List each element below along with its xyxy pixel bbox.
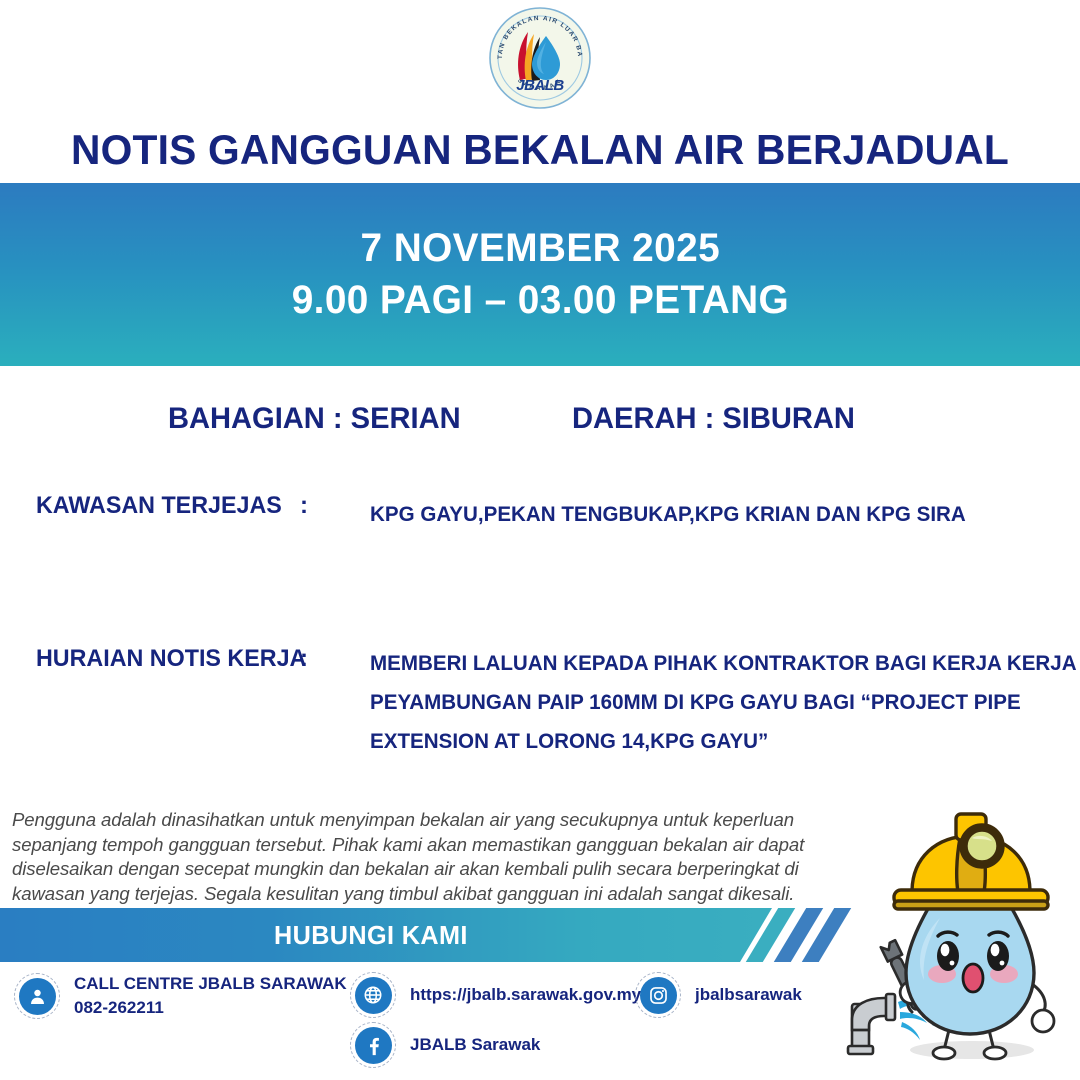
schedule-band: 7 NOVEMBER 2025 9.00 PAGI – 03.00 PETANG: [0, 183, 1080, 366]
disclaimer-text: Pengguna adalah dinasihatkan untuk menyi…: [12, 808, 812, 907]
location-row: BAHAGIAN : SERIAN DAERAH : SIBURAN: [0, 402, 1080, 442]
instagram-icon: [635, 972, 681, 1018]
website-url: https://jbalb.sarawak.gov.my/: [410, 983, 646, 1007]
page-title: NOTIS GANGGUAN BEKALAN AIR BERJADUAL: [16, 126, 1064, 174]
work-description-line-3: EXTENSION AT LORONG 14,KPG GAYU”: [370, 723, 1077, 762]
jbalb-logo: JABATAN BEKALAN AIR LUAR BANDAR SARAWAK …: [488, 6, 592, 110]
work-description-line-1: MEMBERI LALUAN KEPADA PIHAK KONTRAKTOR B…: [370, 645, 1077, 684]
svg-text:JBALB: JBALB: [516, 77, 564, 94]
contact-website-text: https://jbalb.sarawak.gov.my/: [410, 983, 646, 1007]
contact-facebook-text: JBALB Sarawak: [410, 1033, 540, 1057]
contact-banner-title: HUBUNGI KAMI: [274, 920, 468, 951]
call-centre-phone: 082-262211: [74, 996, 347, 1020]
contact-facebook[interactable]: JBALB Sarawak: [350, 1022, 540, 1068]
contact-call-centre[interactable]: CALL CENTRE JBALB SARAWAK 082-262211: [14, 972, 347, 1020]
work-description-value: MEMBERI LALUAN KEPADA PIHAK KONTRAKTOR B…: [370, 645, 1077, 762]
affected-area-value: KPG GAYU,PEKAN TENGBUKAP,KPG KRIAN DAN K…: [370, 496, 966, 535]
water-drop-mascot: [832, 788, 1080, 1080]
globe-icon: [350, 972, 396, 1018]
affected-area-label: KAWASAN TERJEJAS: [36, 492, 282, 520]
contact-banner-fill: HUBUNGI KAMI: [0, 908, 772, 962]
bahagian-label: BAHAGIAN : SERIAN: [168, 402, 461, 436]
contact-banner: HUBUNGI KAMI: [0, 908, 790, 962]
facebook-page: JBALB Sarawak: [410, 1033, 540, 1057]
work-description-line-2: PEYAMBUNGAN PAIP 160MM DI KPG GAYU BAGI …: [370, 684, 1077, 723]
work-description-label: HURAIAN NOTIS KERJA: [36, 645, 306, 673]
call-centre-name: CALL CENTRE JBALB SARAWAK: [74, 972, 347, 996]
contact-instagram[interactable]: jbalbsarawak: [635, 972, 802, 1018]
work-description-colon: :: [300, 645, 308, 673]
contact-instagram-text: jbalbsarawak: [695, 983, 802, 1007]
contact-call-centre-text: CALL CENTRE JBALB SARAWAK 082-262211: [74, 972, 347, 1020]
daerah-label: DAERAH : SIBURAN: [572, 402, 855, 436]
schedule-date: 7 NOVEMBER 2025: [360, 223, 719, 274]
contact-website[interactable]: https://jbalb.sarawak.gov.my/: [350, 972, 646, 1018]
person-icon: [14, 973, 60, 1019]
schedule-time: 9.00 PAGI – 03.00 PETANG: [291, 275, 788, 326]
facebook-icon: [350, 1022, 396, 1068]
instagram-handle: jbalbsarawak: [695, 983, 802, 1007]
logo-container: JABATAN BEKALAN AIR LUAR BANDAR SARAWAK …: [0, 6, 1080, 110]
affected-area-colon: :: [300, 492, 308, 520]
